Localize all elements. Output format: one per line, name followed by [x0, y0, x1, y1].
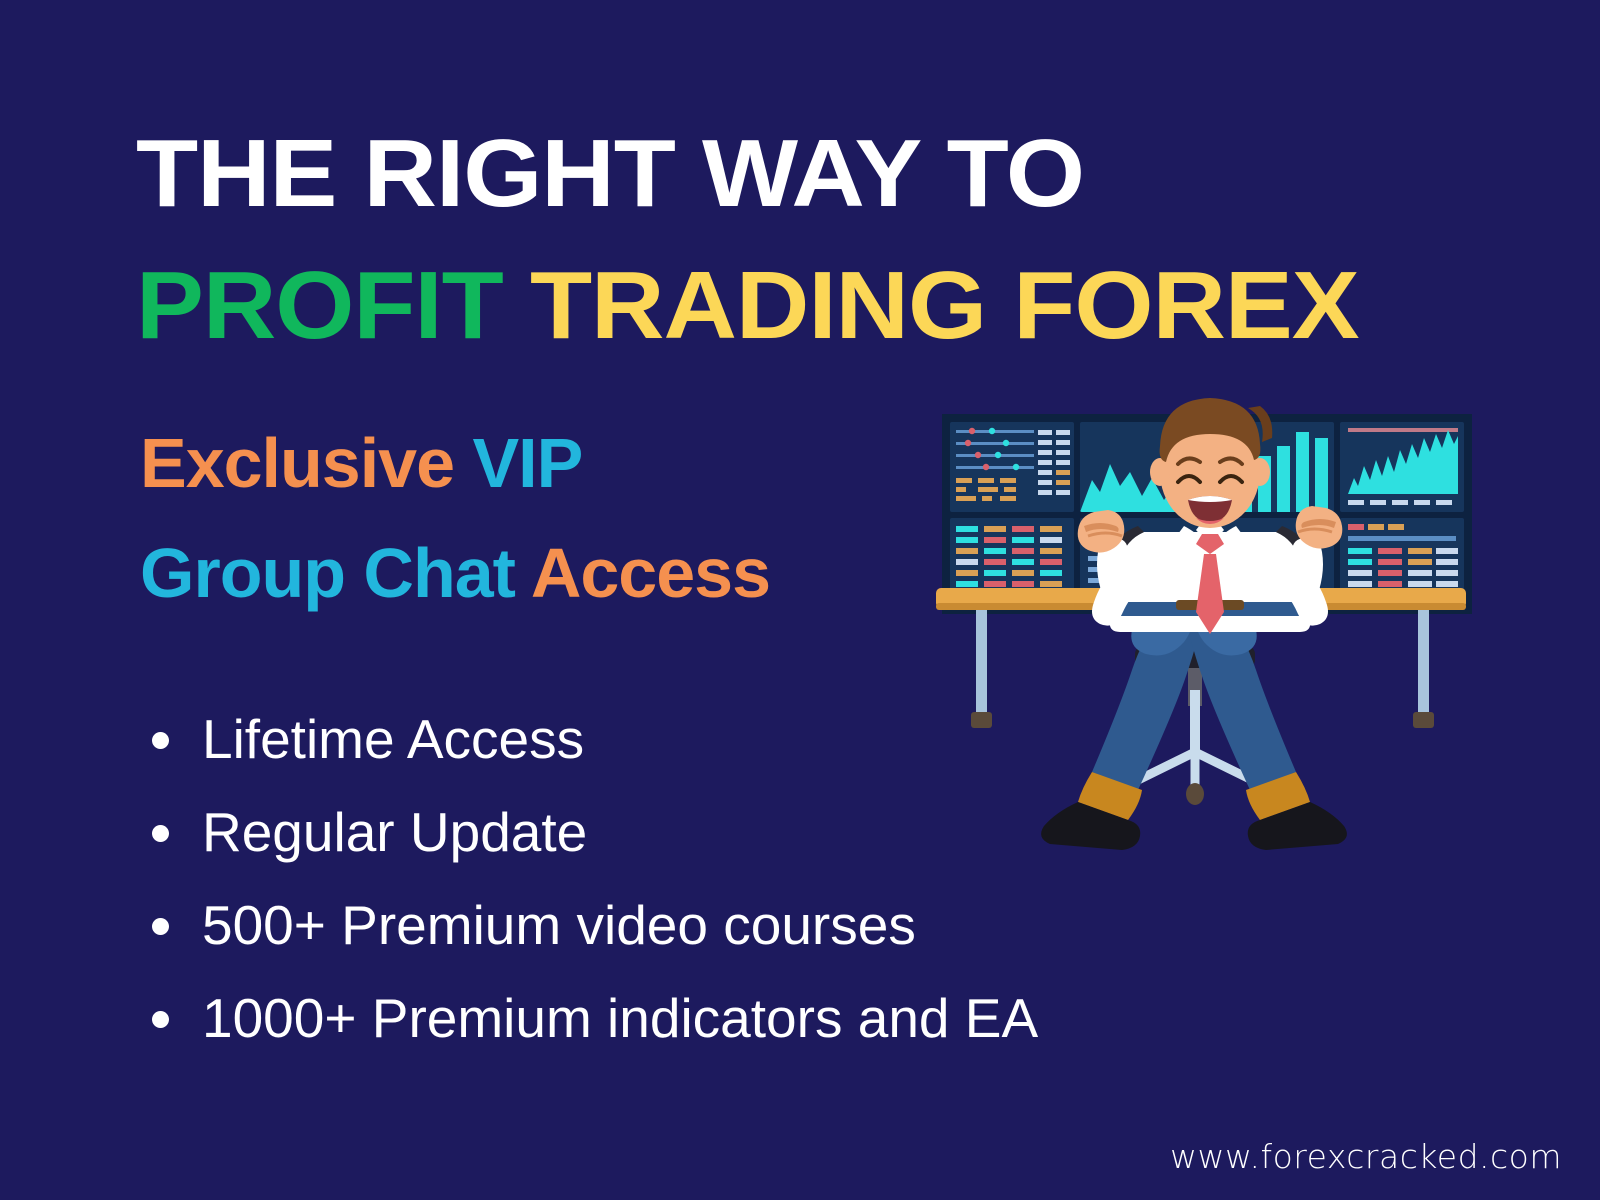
subheading-word-access: Access: [531, 534, 770, 612]
feature-bullet-list: Lifetime Access Regular Update 500+ Prem…: [140, 704, 1038, 1076]
list-item: Regular Update: [140, 797, 1038, 890]
bullet-dot-icon: [152, 732, 169, 749]
list-item-label: Lifetime Access: [202, 708, 584, 770]
list-item-label: Regular Update: [202, 801, 587, 863]
subheading-line-2: Group Chat Access: [140, 538, 770, 608]
monitor-screen-1: [950, 422, 1074, 512]
bullet-dot-icon: [152, 918, 169, 935]
subheading-word-group-chat: Group Chat: [140, 534, 531, 612]
subheading-line-1: Exclusive VIP: [140, 428, 582, 498]
headline-word-trading-forex: TRADING FOREX: [530, 252, 1359, 359]
headline-line-1: THE RIGHT WAY TO: [136, 126, 1084, 222]
headline-word-profit: PROFIT: [136, 252, 530, 359]
subheading-word-vip: VIP: [472, 424, 582, 502]
headline-line-2: PROFIT TRADING FOREX: [136, 258, 1359, 354]
monitor-screen-4: [1340, 422, 1464, 512]
subheading-word-exclusive: Exclusive: [140, 424, 472, 502]
list-item-label: 500+ Premium video courses: [202, 894, 916, 956]
list-item: Lifetime Access: [140, 704, 1038, 797]
website-url[interactable]: www.forexcracked.com: [1170, 1137, 1562, 1176]
list-item: 500+ Premium video courses: [140, 890, 1038, 983]
poster-canvas: THE RIGHT WAY TO PROFIT TRADING FOREX Ex…: [0, 0, 1600, 1200]
bullet-dot-icon: [152, 825, 169, 842]
list-item: 1000+ Premium indicators and EA: [140, 983, 1038, 1076]
list-item-label: 1000+ Premium indicators and EA: [202, 987, 1038, 1049]
bullet-dot-icon: [152, 1011, 169, 1028]
trader-celebration-illustration: [930, 360, 1490, 900]
